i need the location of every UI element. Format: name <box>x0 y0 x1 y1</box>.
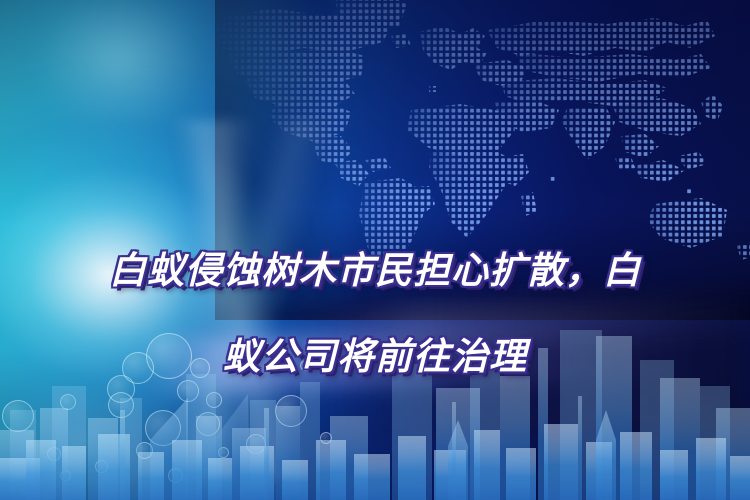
page-title: 白蚁侵蚀树木市民担心扩散，白 蚁公司将前往治理 <box>0 206 750 421</box>
title-line-2: 蚁公司将前往治理 <box>0 335 750 378</box>
title-line-1: 白蚁侵蚀树木市民担心扩散，白 <box>0 249 750 292</box>
banner-image: 白蚁侵蚀树木市民担心扩散，白 蚁公司将前往治理 <box>0 0 750 500</box>
